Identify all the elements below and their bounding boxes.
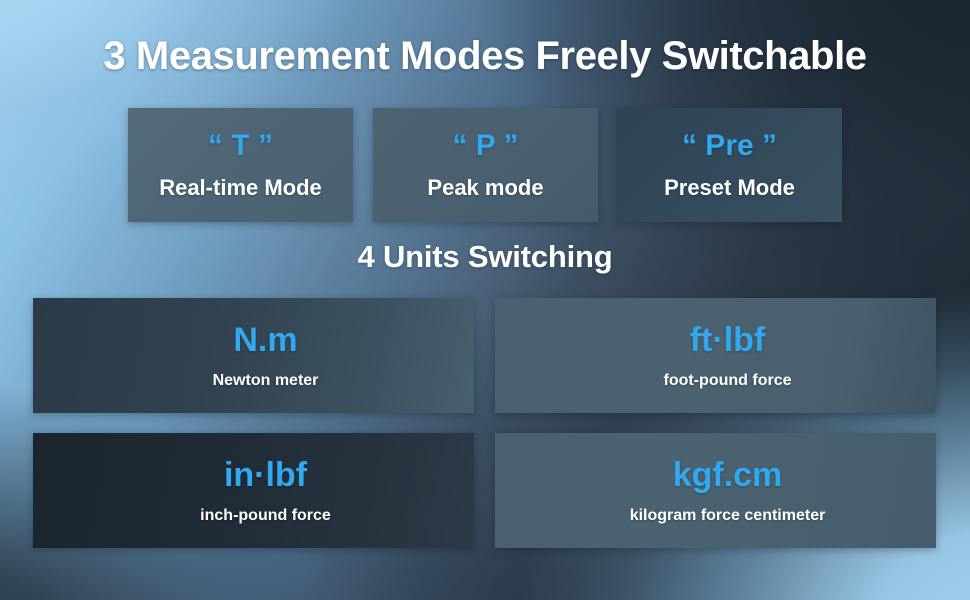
mode-card-real-time[interactable]: “ T ” Real-time Mode bbox=[128, 108, 353, 222]
unit-symbol-foot-pound-force: ft·lbf bbox=[690, 323, 766, 357]
mode-card-peak[interactable]: “ P ” Peak mode bbox=[373, 108, 598, 222]
unit-label-inch-pound-force: inch-pound force bbox=[200, 508, 331, 524]
unit-symbol-newton-meter: N.m bbox=[233, 323, 297, 357]
unit-label-foot-pound-force: foot-pound force bbox=[664, 373, 792, 389]
unit-symbol-kilogram-force-centimeter: kgf.cm bbox=[673, 458, 783, 492]
mode-label-preset: Preset Mode bbox=[664, 177, 795, 199]
unit-card-content-kilogram-force-centimeter: kgf.cm kilogram force centimeter bbox=[630, 458, 826, 524]
mode-symbol-preset: “ Pre ” bbox=[682, 131, 777, 161]
unit-card-newton-meter[interactable]: N.m Newton meter bbox=[33, 298, 474, 413]
promo-graphic: 3 Measurement Modes Freely Switchable “ … bbox=[0, 0, 970, 600]
mode-label-real-time: Real-time Mode bbox=[159, 177, 322, 199]
unit-symbol-inch-pound-force: in·lbf bbox=[224, 458, 307, 492]
unit-card-foot-pound-force[interactable]: ft·lbf foot-pound force bbox=[495, 298, 936, 413]
unit-card-content-inch-pound-force: in·lbf inch-pound force bbox=[200, 458, 331, 524]
mode-card-preset[interactable]: “ Pre ” Preset Mode bbox=[617, 108, 842, 222]
unit-card-content-foot-pound-force: ft·lbf foot-pound force bbox=[664, 323, 792, 389]
unit-card-inch-pound-force[interactable]: in·lbf inch-pound force bbox=[33, 433, 474, 548]
page-title: 3 Measurement Modes Freely Switchable bbox=[0, 34, 970, 78]
mode-symbol-peak: “ P ” bbox=[452, 131, 518, 161]
unit-label-kilogram-force-centimeter: kilogram force centimeter bbox=[630, 508, 826, 524]
unit-card-content-newton-meter: N.m Newton meter bbox=[213, 323, 319, 389]
unit-label-newton-meter: Newton meter bbox=[213, 373, 319, 389]
mode-symbol-real-time: “ T ” bbox=[208, 131, 273, 161]
mode-label-peak: Peak mode bbox=[427, 177, 543, 199]
section-subtitle-units: 4 Units Switching bbox=[0, 240, 970, 274]
unit-card-kilogram-force-centimeter[interactable]: kgf.cm kilogram force centimeter bbox=[495, 433, 936, 548]
